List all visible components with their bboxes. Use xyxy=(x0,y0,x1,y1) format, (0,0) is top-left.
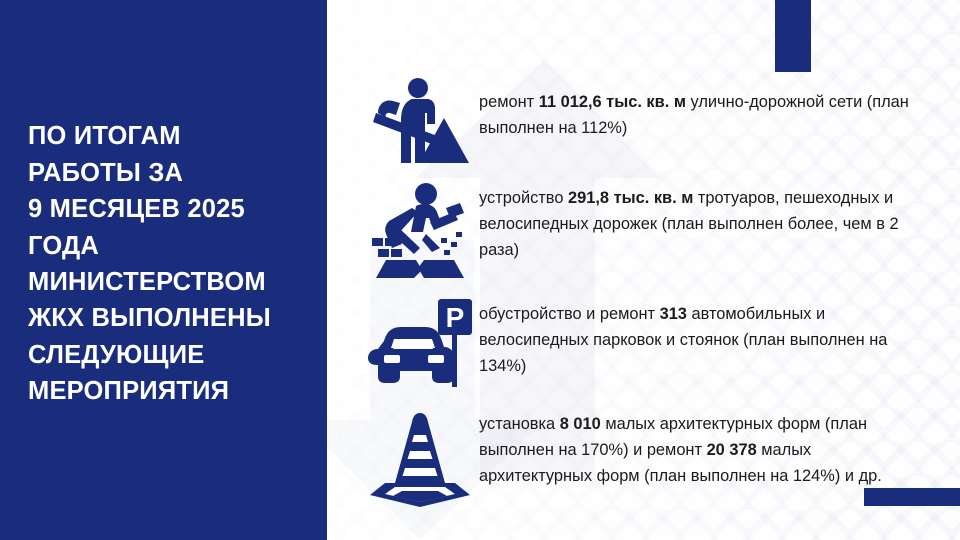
list-item: устройство 291,8 тыс. кв. м тротуаров, п… xyxy=(365,180,920,280)
svg-text:P: P xyxy=(446,302,465,333)
achievements-list: ремонт 11 012,6 тыс. кв. м улично-дорожн… xyxy=(327,0,960,540)
text-lead: установка xyxy=(479,415,560,433)
text-lead: обустройство и ремонт xyxy=(479,305,660,323)
metric-value: 313 xyxy=(660,305,687,323)
list-item: установка 8 010 малых архитектурных форм… xyxy=(365,408,920,508)
car-parking-sign-icon: P xyxy=(365,294,475,394)
metric-value-secondary: 20 378 xyxy=(707,441,757,459)
list-item-text: устройство 291,8 тыс. кв. м тротуаров, п… xyxy=(475,180,920,264)
metric-value: 8 010 xyxy=(560,415,601,433)
slide-root: ПО ИТОГАМ РАБОТЫ ЗА 9 МЕСЯЦЕВ 2025 ГОДА … xyxy=(0,0,960,540)
text-lead: ремонт xyxy=(479,93,539,111)
traffic-cone-icon xyxy=(365,408,475,508)
metric-value: 291,8 тыс. кв. м xyxy=(568,189,693,207)
list-item-text: установка 8 010 малых архитектурных форм… xyxy=(475,408,920,490)
metric-value: 11 012,6 тыс. кв. м xyxy=(539,93,686,111)
road-worker-shovel-icon xyxy=(365,74,475,166)
list-item: ремонт 11 012,6 тыс. кв. м улично-дорожн… xyxy=(365,74,920,166)
worker-sledgehammer-pavement-icon xyxy=(365,180,475,280)
title-panel: ПО ИТОГАМ РАБОТЫ ЗА 9 МЕСЯЦЕВ 2025 ГОДА … xyxy=(0,0,327,540)
list-item-text: обустройство и ремонт 313 автомобильных … xyxy=(475,294,920,380)
list-item: P обустройство и ремонт 313 автомобильны… xyxy=(365,294,920,394)
text-lead: устройство xyxy=(479,189,568,207)
page-title: ПО ИТОГАМ РАБОТЫ ЗА 9 МЕСЯЦЕВ 2025 ГОДА … xyxy=(0,118,297,410)
list-item-text: ремонт 11 012,6 тыс. кв. м улично-дорожн… xyxy=(475,74,920,142)
